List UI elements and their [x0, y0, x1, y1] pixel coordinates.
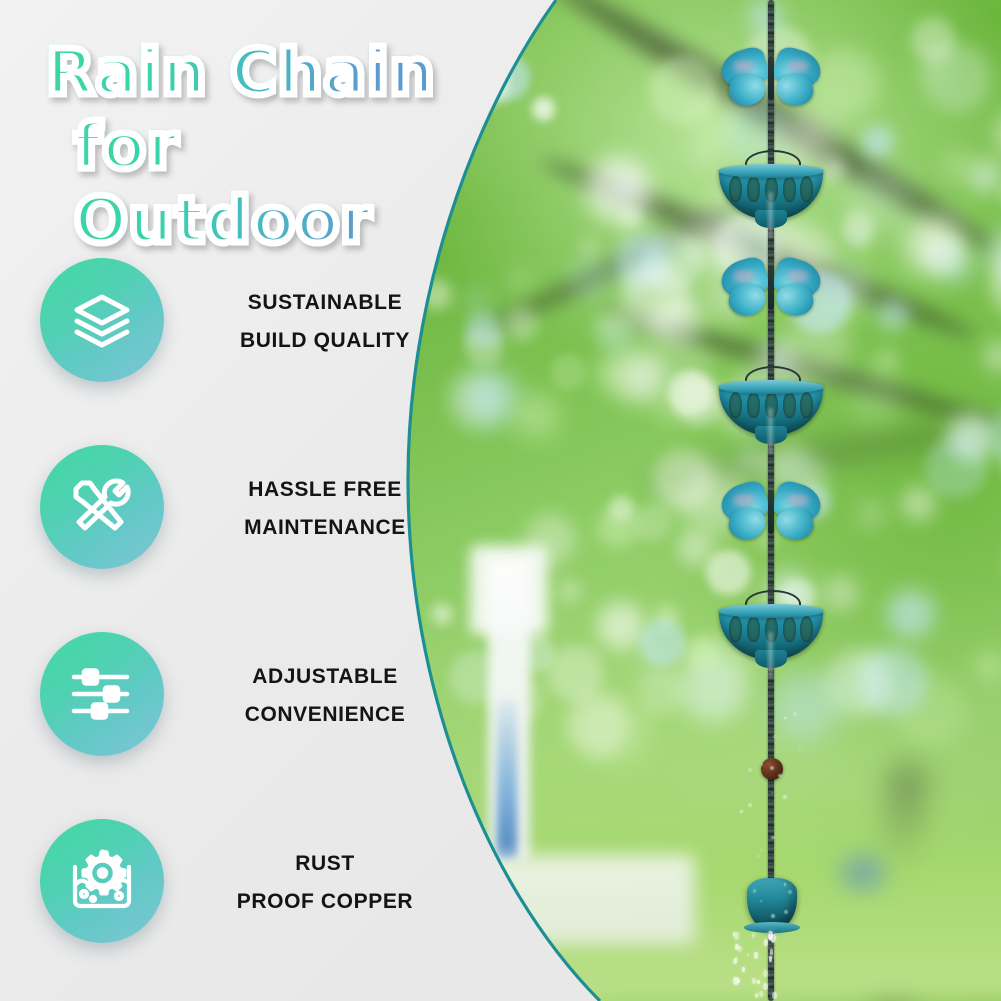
feature-icon-circle [40, 632, 164, 756]
butterfly-wing-sheen [787, 60, 809, 72]
cup-petal-cutout [783, 176, 796, 202]
feature-item-sustainable-build-quality: SUSTAINABLE BUILD QUALITY [40, 258, 440, 445]
water-droplet [754, 952, 758, 959]
water-splash [784, 910, 787, 913]
title-line-2: for Outdoor [46, 110, 466, 258]
sliders-icon [65, 657, 139, 731]
water-stream [768, 408, 773, 454]
feature-icon-circle [40, 819, 164, 943]
feature-label-line-2: BUILD QUALITY [210, 322, 440, 360]
water-droplet [742, 967, 745, 971]
butterfly-ornament [719, 48, 823, 110]
feature-label: ADJUSTABLE CONVENIENCE [210, 658, 440, 734]
page-title: Rain Chain for Outdoor [46, 36, 466, 258]
butterfly-body [768, 490, 774, 534]
water-splash [760, 849, 763, 852]
cup-petal-cutout [800, 176, 813, 202]
water-splash [753, 889, 757, 893]
water-splash [793, 712, 797, 716]
water-droplet [772, 992, 777, 999]
water-droplet [747, 953, 749, 956]
water-splash [799, 749, 801, 751]
cup-petal-cutout [747, 616, 760, 642]
feature-label-line-2: MAINTENANCE [210, 509, 440, 547]
butterfly-body [768, 266, 774, 310]
butterfly-ornament [719, 258, 823, 320]
water-droplet [763, 970, 768, 977]
feature-label-line-1: ADJUSTABLE [210, 658, 440, 696]
butterfly-wing-sheen [733, 60, 755, 72]
cup-rim [718, 604, 824, 618]
butterfly-ornament [719, 482, 823, 544]
cup-petal-cutout [800, 616, 813, 642]
feature-label-line-2: CONVENIENCE [210, 696, 440, 734]
cup-petal-cutout [729, 392, 742, 418]
feature-label: RUST PROOF COPPER [210, 845, 440, 921]
product-infographic: Rain Chain for Outdoor SUSTAINABLE BUILD… [0, 0, 1001, 1001]
water-splash [784, 717, 786, 719]
water-stream [768, 632, 773, 678]
cup-petal-cutout [747, 176, 760, 202]
water-droplet [752, 933, 755, 938]
water-stream [768, 192, 773, 238]
feature-item-adjustable-convenience: ADJUSTABLE CONVENIENCE [40, 632, 440, 819]
feature-label: HASSLE FREE MAINTENANCE [210, 471, 440, 547]
water-splash [778, 774, 781, 777]
water-droplet [734, 932, 739, 940]
water-splash [771, 836, 774, 839]
water-splash [776, 737, 778, 739]
cup-rim [718, 380, 824, 394]
butterfly-wing-sheen [733, 494, 755, 506]
butterfly-wing-sheen [787, 494, 809, 506]
feature-icon-circle [40, 445, 164, 569]
feature-item-rust-proof-copper: RUST PROOF COPPER [40, 819, 440, 1001]
feature-list: SUSTAINABLE BUILD QUALITY HASSLE FREE MA [40, 258, 440, 1001]
water-splash [773, 735, 776, 738]
butterfly-body [768, 56, 774, 100]
cup-petal-cutout [783, 616, 796, 642]
background-post-blue-stripe [497, 700, 517, 860]
feature-label-line-1: HASSLE FREE [210, 471, 440, 509]
feature-label-line-1: RUST [210, 845, 440, 883]
butterfly-wing-sheen [733, 270, 755, 282]
feature-label-line-1: SUSTAINABLE [210, 284, 440, 322]
layers-icon [65, 283, 139, 357]
title-line-1: Rain Chain [46, 36, 466, 110]
cup-petal-cutout [729, 176, 742, 202]
cup-petal-cutout [800, 392, 813, 418]
water-droplet [755, 993, 759, 998]
tools-icon [65, 470, 139, 544]
water-droplet [757, 980, 760, 984]
rain-chain [706, 0, 836, 1001]
background-fence [435, 855, 695, 945]
cup-petal-cutout [783, 392, 796, 418]
feature-item-hassle-free-maintenance: HASSLE FREE MAINTENANCE [40, 445, 440, 632]
water-droplet [733, 959, 737, 964]
feature-icon-circle [40, 258, 164, 382]
water-droplet [733, 977, 738, 985]
gear-in-liquid-icon [64, 843, 140, 919]
water-splash [757, 855, 759, 857]
water-droplet [752, 978, 756, 984]
butterfly-wing-sheen [787, 270, 809, 282]
water-droplet [768, 931, 774, 940]
water-droplet [759, 991, 763, 998]
water-splash [748, 803, 752, 807]
feature-label: SUSTAINABLE BUILD QUALITY [210, 284, 440, 360]
cup-petal-cutout [747, 392, 760, 418]
water-splash [740, 810, 743, 813]
cup-petal-cutout [729, 616, 742, 642]
feature-label-line-2: PROOF COPPER [210, 883, 440, 921]
water-splash [788, 890, 792, 894]
water-splash [748, 768, 752, 772]
water-splash [783, 795, 786, 798]
cup-rim [718, 164, 824, 178]
background-blue-object [840, 855, 886, 891]
